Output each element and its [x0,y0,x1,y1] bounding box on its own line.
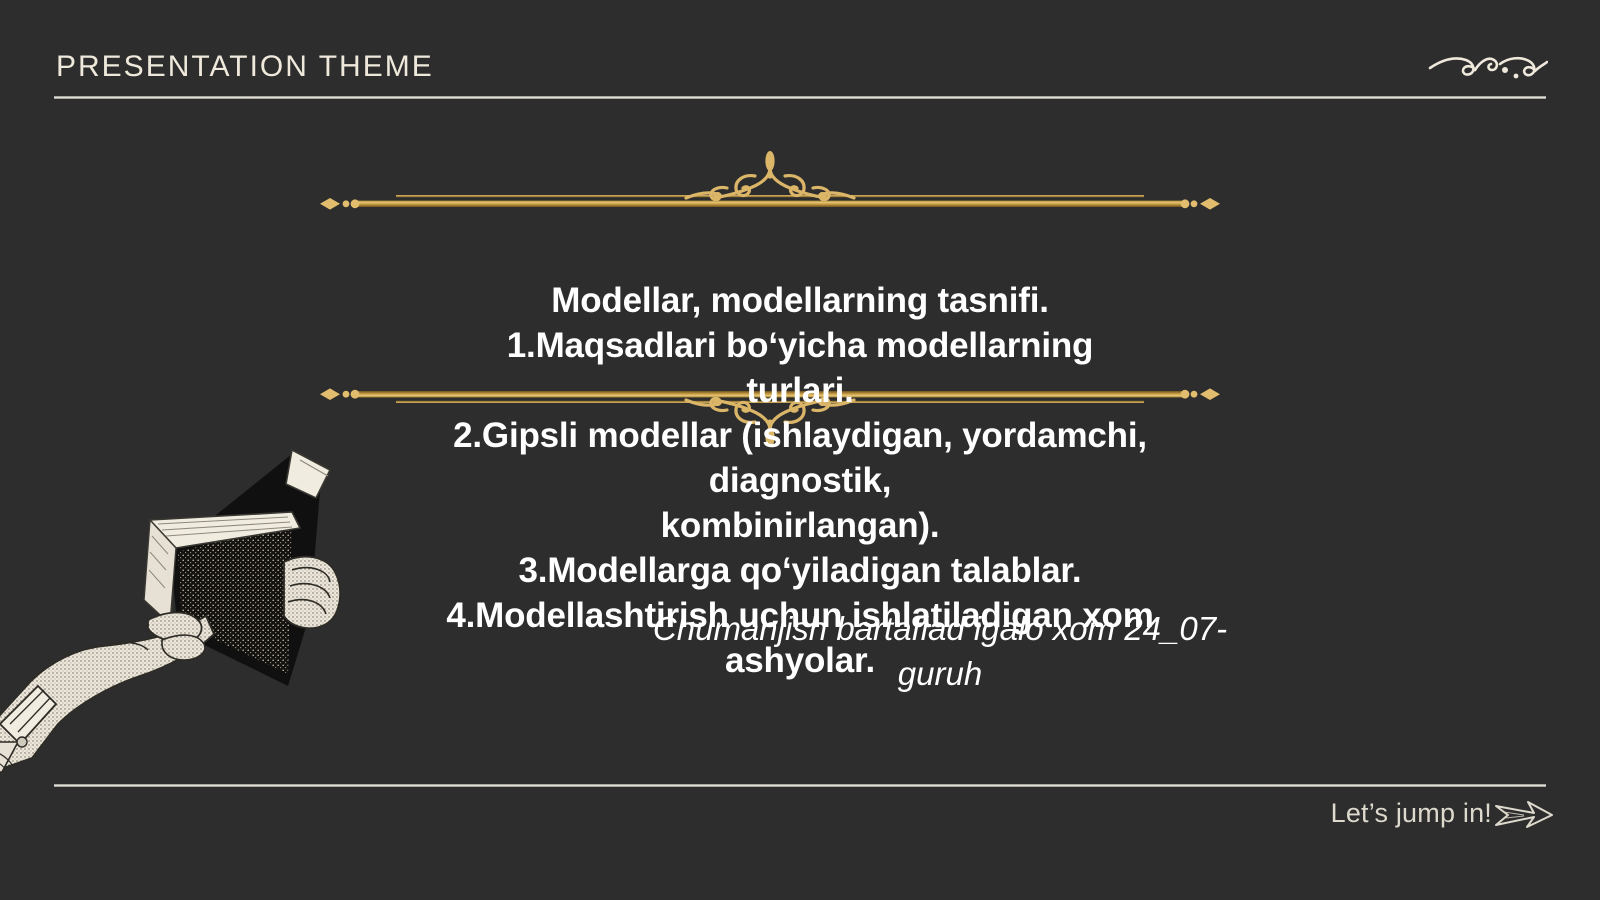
body-line: Modellar, modellarning tasnifi. [300,278,1300,323]
swirl-flourish-icon [1428,40,1548,86]
body-line: 4.Modellashtirish uchun ishlatiladigan x… [300,593,1300,638]
header-divider-line [54,96,1546,99]
body-line: 1.Maqsadlari bo‘yicha modellarning [300,323,1300,368]
body-line: 3.Modellarga qo‘yiladigan talablar. [300,548,1300,593]
footer-label: Let’s jump in! [1331,798,1492,829]
body-line: 2.Gipsli modellar (ishlaydigan, yordamch… [300,413,1300,458]
hand-drawn-arrow-right-icon[interactable] [1494,798,1554,832]
gold-ornamental-divider [318,148,1222,218]
body-line: ashyolar. [300,638,1300,683]
body-line: turlari. [300,368,1300,413]
body-line: kombinirlangan). [300,503,1300,548]
slide-body-text: Modellar, modellarning tasnifi. 1.Maqsad… [300,278,1300,683]
footer-divider-line [54,784,1546,787]
body-line: diagnostik, [300,458,1300,503]
page-title: PRESENTATION THEME [56,50,434,84]
presentation-slide: PRESENTATION THEME [0,0,1600,900]
